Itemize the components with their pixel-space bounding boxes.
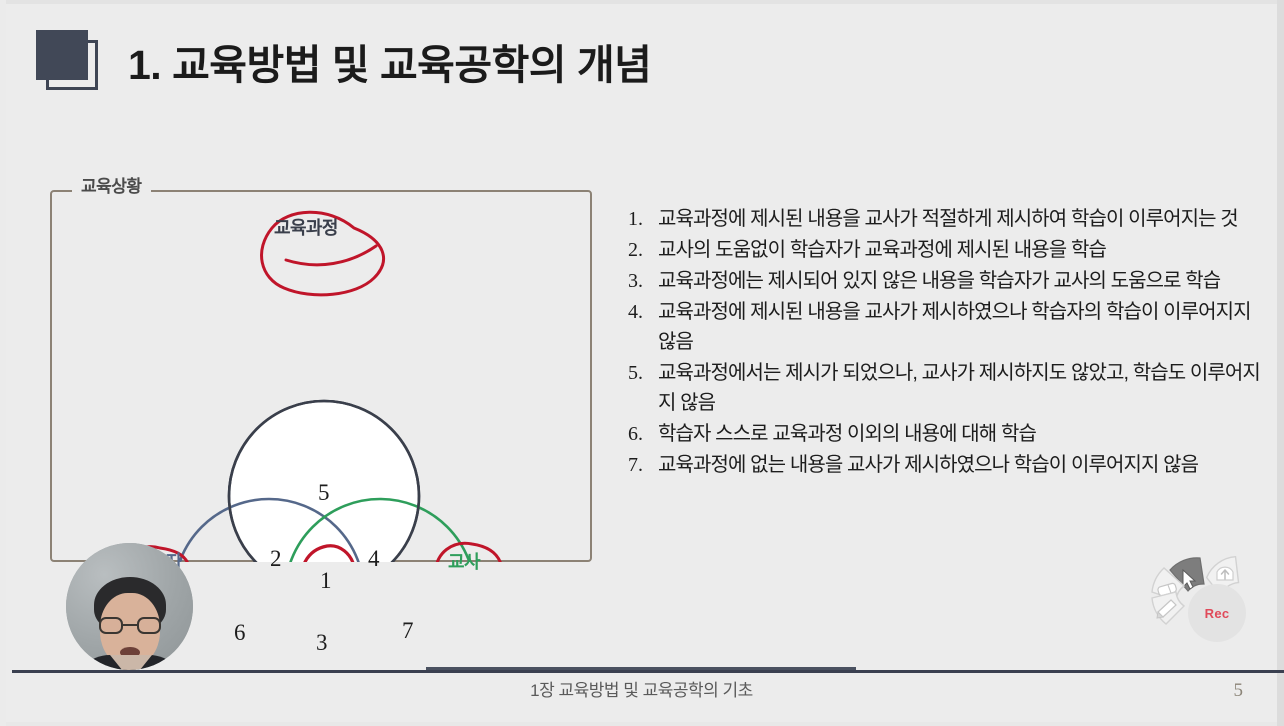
venn-region-7: 7 xyxy=(402,618,414,644)
list-item: 1. 교육과정에 제시된 내용을 교사가 적절하게 제시하여 학습이 이루어지는… xyxy=(628,204,1268,234)
venn-label-curriculum: 교육과정 xyxy=(274,214,338,240)
list-item: 4. 교육과정에 제시된 내용을 교사가 제시하였으나 학습자의 학습이 이루어… xyxy=(628,297,1268,357)
list-item-number: 5. xyxy=(628,358,658,418)
rec-label: Rec xyxy=(1205,606,1230,621)
slide-title-row: 1. 교육방법 및 교육공학의 개념 xyxy=(36,26,1136,106)
explanation-list: 1. 교육과정에 제시된 내용을 교사가 적절하게 제시하여 학습이 이루어지는… xyxy=(628,204,1268,481)
page-number: 5 xyxy=(1234,680,1244,702)
webcam-overlay[interactable] xyxy=(66,543,193,670)
stacked-squares-icon xyxy=(36,30,100,92)
viewer-right-edge xyxy=(1277,0,1284,726)
list-item-text: 학습자 스스로 교육과정 이외의 내용에 대해 학습 xyxy=(658,419,1268,449)
venn-label-teacher: 교사 xyxy=(448,548,480,574)
arrow-up-icon xyxy=(1217,567,1233,580)
list-item-number: 7. xyxy=(628,450,658,480)
rec-button[interactable]: Rec xyxy=(1188,584,1246,642)
list-item: 7. 교육과정에 없는 내용을 교사가 제시하였으나 학습이 이루어지지 않음 xyxy=(628,450,1268,480)
list-item-text: 교육과정에 없는 내용을 교사가 제시하였으나 학습이 이루어지지 않음 xyxy=(658,450,1268,480)
list-item-text: 교육과정에서는 제시가 되었으나, 교사가 제시하지도 않았고, 학습도 이루어… xyxy=(658,358,1268,418)
slide-canvas: 1. 교육방법 및 교육공학의 개념 교육상황 xyxy=(6,4,1277,722)
list-item: 6. 학습자 스스로 교육과정 이외의 내용에 대해 학습 xyxy=(628,419,1268,449)
list-item-text: 교사의 도움없이 학습자가 교육과정에 제시된 내용을 학습 xyxy=(658,235,1268,265)
list-item-text: 교육과정에 제시된 내용을 교사가 적절하게 제시하여 학습이 이루어지는 것 xyxy=(658,204,1268,234)
footer-divider xyxy=(12,670,1284,673)
slide-viewer: 1. 교육방법 및 교육공학의 개념 교육상황 xyxy=(0,0,1284,726)
recording-toolbar[interactable]: Rec xyxy=(1148,548,1260,646)
venn-region-3: 3 xyxy=(316,630,328,656)
venn-svg xyxy=(50,190,592,562)
venn-region-1: 1 xyxy=(320,568,332,594)
venn-diagram: 5 2 4 1 6 3 7 교육과정 학습자 교사 xyxy=(50,190,592,562)
list-item: 3. 교육과정에는 제시되어 있지 않은 내용을 학습자가 교사의 도움으로 학… xyxy=(628,266,1268,296)
footer-text: 1장 교육방법 및 교육공학의 기초 xyxy=(6,676,1277,701)
list-item-number: 3. xyxy=(628,266,658,296)
list-item: 2. 교사의 도움없이 학습자가 교육과정에 제시된 내용을 학습 xyxy=(628,235,1268,265)
list-item-number: 4. xyxy=(628,297,658,357)
venn-region-2: 2 xyxy=(270,546,282,572)
glasses-icon xyxy=(99,617,161,634)
list-item: 5. 교육과정에서는 제시가 되었으나, 교사가 제시하지도 않았고, 학습도 … xyxy=(628,358,1268,418)
list-item-number: 6. xyxy=(628,419,658,449)
list-item-number: 2. xyxy=(628,235,658,265)
list-item-text: 교육과정에는 제시되어 있지 않은 내용을 학습자가 교사의 도움으로 학습 xyxy=(658,266,1268,296)
list-item-text: 교육과정에 제시된 내용을 교사가 제시하였으나 학습자의 학습이 이루어지지 … xyxy=(658,297,1268,357)
list-item-number: 1. xyxy=(628,204,658,234)
page-title: 1. 교육방법 및 교육공학의 개념 xyxy=(128,26,651,104)
venn-region-6: 6 xyxy=(234,620,246,646)
venn-region-4: 4 xyxy=(368,546,380,572)
footer-divider-accent xyxy=(426,667,856,670)
pen-tool-button[interactable] xyxy=(1152,592,1184,624)
venn-region-5: 5 xyxy=(318,480,330,506)
